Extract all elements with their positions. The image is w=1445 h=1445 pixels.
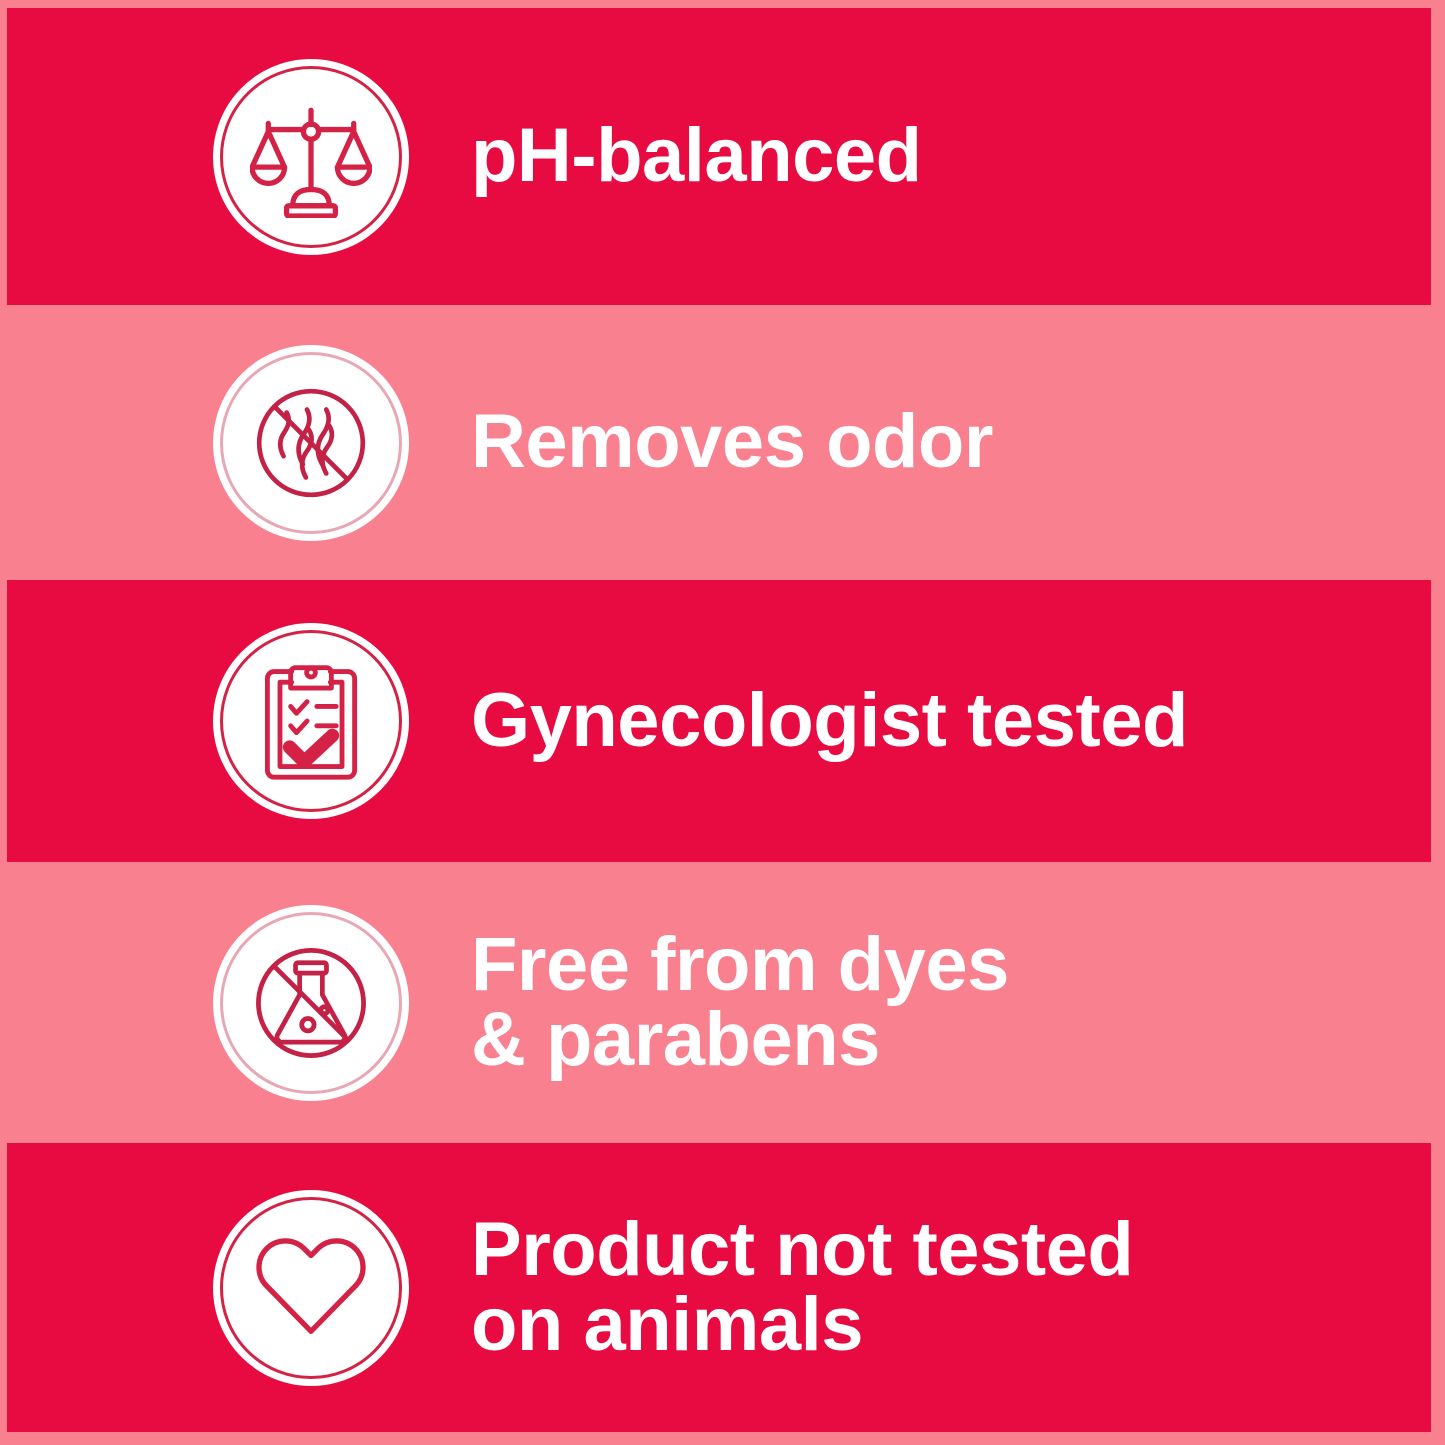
feature-row-gynecologist-tested: Gynecologist tested <box>7 580 1431 862</box>
feature-row-ph-balanced: pH-balanced <box>7 8 1431 305</box>
feature-row-removes-odor: Removes odor <box>7 305 1431 580</box>
heart-icon <box>213 1190 409 1386</box>
no-odor-icon <box>213 345 409 541</box>
product-feature-infographic: pH-balanced Removes odor <box>0 0 1445 1445</box>
feature-row-free-from-dyes-parabens: Free from dyes & parabens <box>7 862 1431 1143</box>
no-chemical-flask-icon <box>213 905 409 1101</box>
feature-label: Product not tested on animals <box>471 1213 1431 1362</box>
balance-scale-icon <box>213 59 409 255</box>
clipboard-checklist-icon <box>213 623 409 819</box>
feature-label: Gynecologist tested <box>471 684 1431 758</box>
feature-row-product-not-tested-on-animals: Product not tested on animals <box>7 1143 1431 1432</box>
feature-label: pH-balanced <box>471 119 1431 193</box>
feature-label: Removes odor <box>471 405 1431 479</box>
feature-label: Free from dyes & parabens <box>471 928 1431 1077</box>
